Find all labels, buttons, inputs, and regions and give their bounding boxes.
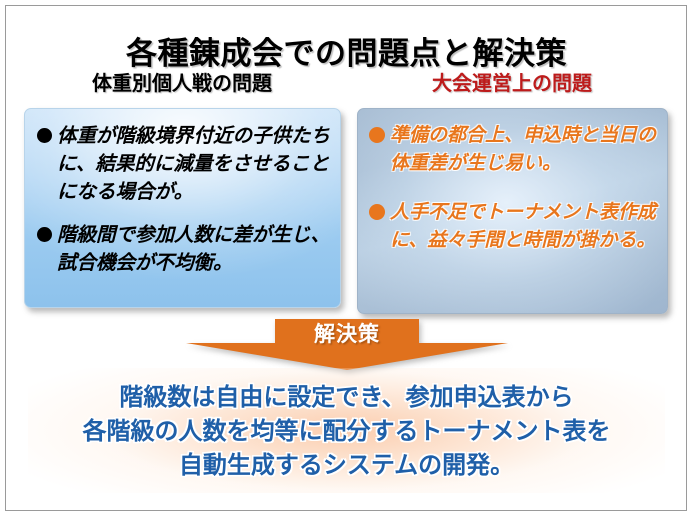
list-item: 体重が階級境界付近の子供たちに、結果的に減量をさせることになる場合が。 [37, 122, 331, 206]
conclusion-text: 階級数は自由に設定でき、参加申込表から 各階級の人数を均等に配分するトーナメント… [25, 380, 668, 482]
conclusion-line: 各階級の人数を均等に配分するトーナメント表を [25, 414, 668, 448]
conclusion-line: 階級数は自由に設定でき、参加申込表から [25, 380, 668, 414]
list-item-text: 体重が階級境界付近の子供たちに、結果的に減量をさせることになる場合が。 [57, 122, 331, 206]
list-item-text: 階級間で参加人数に差が生じ、試合機会が不均衡。 [57, 221, 331, 277]
list-item: 階級間で参加人数に差が生じ、試合機会が不均衡。 [37, 221, 331, 277]
bullet-dot-icon [369, 204, 385, 220]
page-title: 各種錬成会での問題点と解決策 [0, 34, 693, 74]
bullet-dot-icon [369, 127, 385, 143]
solution-arrow: 解決策 [186, 319, 508, 370]
list-item-text: 人手不足でトーナメント表作成に、益々手間と時間が掛かる。 [390, 198, 659, 254]
presentation-slide: 各種錬成会での問題点と解決策 体重別個人戦の問題 体重が階級境界付近の子供たちに… [0, 0, 693, 523]
conclusion-line: 自動生成するシステムの開発。 [25, 448, 668, 482]
solution-arrow-label: 解決策 [186, 321, 508, 347]
left-problem-box: 体重が階級境界付近の子供たちに、結果的に減量をさせることになる場合が。 階級間で… [24, 108, 341, 308]
right-column-heading: 大会運営上の問題 [356, 70, 668, 96]
list-item-text: 準備の都合上、申込時と当日の体重差が生じ易い。 [390, 121, 659, 177]
list-item: 人手不足でトーナメント表作成に、益々手間と時間が掛かる。 [369, 198, 659, 254]
bullet-dot-icon [37, 128, 52, 143]
left-bullet-list: 体重が階級境界付近の子供たちに、結果的に減量をさせることになる場合が。 階級間で… [25, 109, 340, 277]
right-problem-box: 準備の都合上、申込時と当日の体重差が生じ易い。 人手不足でトーナメント表作成に、… [357, 108, 668, 314]
list-item: 準備の都合上、申込時と当日の体重差が生じ易い。 [369, 121, 659, 177]
right-bullet-list: 準備の都合上、申込時と当日の体重差が生じ易い。 人手不足でトーナメント表作成に、… [358, 109, 667, 254]
left-column-heading: 体重別個人戦の問題 [22, 70, 342, 96]
bullet-dot-icon [37, 227, 52, 242]
